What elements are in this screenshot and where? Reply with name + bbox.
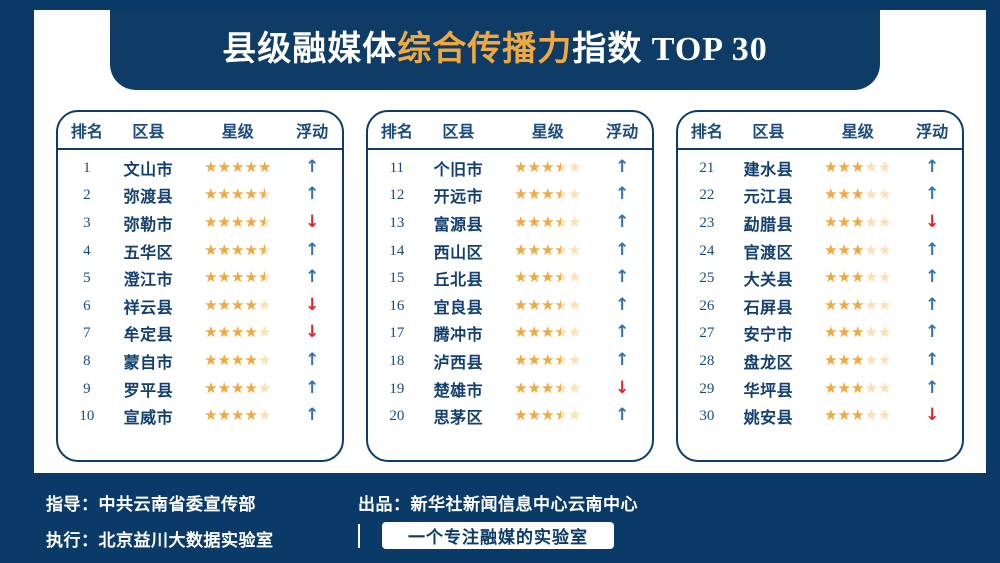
cell-district: 泸西县 bbox=[420, 349, 497, 373]
cell-rank: 15 bbox=[374, 269, 420, 287]
star-rating: ★★★★★★★★★★ bbox=[824, 354, 891, 369]
cell-rank: 3 bbox=[64, 214, 110, 232]
cell-rank: 7 bbox=[64, 324, 110, 342]
cell-district: 腾冲市 bbox=[420, 321, 497, 345]
table-row[interactable]: 4五华区★★★★★★★★★★↑ bbox=[64, 237, 336, 265]
cell-district: 官渡区 bbox=[730, 239, 807, 263]
cell-rank: 22 bbox=[684, 186, 730, 204]
district-name: 祥云县 bbox=[124, 300, 174, 317]
rank-value: 7 bbox=[83, 325, 91, 341]
cell-district: 姚安县 bbox=[730, 404, 807, 428]
cell-change: ↑ bbox=[598, 324, 646, 342]
cell-star-rating: ★★★★★★★★★★ bbox=[187, 159, 288, 177]
cell-rank: 19 bbox=[374, 380, 420, 398]
rank-value: 22 bbox=[699, 187, 714, 203]
column-header-stars: 星级 bbox=[497, 118, 598, 142]
table-row[interactable]: 20思茅区★★★★★★★★★★↑ bbox=[374, 402, 646, 430]
table-row[interactable]: 17腾冲市★★★★★★★★★★↑ bbox=[374, 320, 646, 348]
rank-value: 4 bbox=[83, 243, 91, 259]
rank-value: 27 bbox=[699, 325, 714, 341]
cell-star-rating: ★★★★★★★★★★ bbox=[807, 380, 908, 398]
cell-district: 思茅区 bbox=[420, 404, 497, 428]
footer-executor: 执行：北京益川大数据实验室 bbox=[46, 526, 274, 551]
table-row[interactable]: 9罗平县★★★★★★★★★★↑ bbox=[64, 375, 336, 403]
cell-rank: 24 bbox=[684, 242, 730, 260]
title-banner: 县级融媒体综合传播力指数 TOP 30 bbox=[110, 10, 880, 90]
cell-district: 蒙自市 bbox=[110, 349, 187, 373]
cell-change: ↑ bbox=[288, 186, 336, 204]
star-rating: ★★★★★★★★★★ bbox=[204, 161, 271, 176]
down-arrow-icon: ↓ bbox=[615, 378, 629, 398]
rank-value: 13 bbox=[389, 215, 404, 231]
cell-rank: 12 bbox=[374, 186, 420, 204]
district-name: 澄江市 bbox=[124, 272, 174, 289]
cell-rank: 23 bbox=[684, 214, 730, 232]
cell-district: 安宁市 bbox=[730, 321, 807, 345]
cell-change: ↑ bbox=[908, 324, 956, 342]
star-icon-fill: ★★★★★ bbox=[514, 216, 561, 231]
up-arrow-icon: ↑ bbox=[615, 240, 629, 260]
cell-rank: 14 bbox=[374, 242, 420, 260]
table-row[interactable]: 30姚安县★★★★★★★★★★↓ bbox=[684, 402, 956, 430]
rank-value: 25 bbox=[699, 270, 714, 286]
district-name: 姚安县 bbox=[744, 410, 794, 427]
table-row[interactable]: 28盘龙区★★★★★★★★★★↑ bbox=[684, 347, 956, 375]
cell-rank: 4 bbox=[64, 242, 110, 260]
table-row[interactable]: 16宜良县★★★★★★★★★★↑ bbox=[374, 292, 646, 320]
cell-change: ↑ bbox=[598, 159, 646, 177]
star-rating: ★★★★★★★★★★ bbox=[204, 326, 271, 341]
cell-rank: 21 bbox=[684, 159, 730, 177]
up-arrow-icon: ↑ bbox=[925, 184, 939, 204]
column-header-change: 浮动 bbox=[288, 118, 336, 142]
down-arrow-icon: ↓ bbox=[925, 212, 939, 232]
star-rating: ★★★★★★★★★★ bbox=[514, 326, 581, 341]
district-name: 富源县 bbox=[434, 217, 484, 234]
cell-rank: 26 bbox=[684, 297, 730, 315]
star-icon-fill: ★★★★★ bbox=[824, 409, 864, 424]
cell-rank: 16 bbox=[374, 297, 420, 315]
rank-value: 19 bbox=[389, 381, 404, 397]
cell-star-rating: ★★★★★★★★★★ bbox=[807, 186, 908, 204]
ranking-tables: 排名区县星级浮动1文山市★★★★★★★★★★↑2弥渡县★★★★★★★★★★↑3弥… bbox=[34, 110, 986, 462]
star-icon-fill: ★★★★★ bbox=[824, 326, 864, 341]
district-name: 开远市 bbox=[434, 189, 484, 206]
table-header-row: 排名区县星级浮动 bbox=[58, 112, 342, 150]
star-rating: ★★★★★★★★★★ bbox=[204, 382, 271, 397]
star-rating: ★★★★★★★★★★ bbox=[824, 188, 891, 203]
column-header-change: 浮动 bbox=[908, 118, 956, 142]
footer: 指导：中共云南省委宣传部 出品：新华社新闻信息中心云南中心 执行：北京益川大数据… bbox=[0, 478, 1000, 563]
table-row[interactable]: 21建水县★★★★★★★★★★↑ bbox=[684, 154, 956, 182]
district-name: 牟定县 bbox=[124, 327, 174, 344]
star-rating: ★★★★★★★★★★ bbox=[204, 299, 271, 314]
column-header-district: 区县 bbox=[730, 118, 807, 142]
star-rating: ★★★★★★★★★★ bbox=[824, 244, 891, 259]
star-rating: ★★★★★★★★★★ bbox=[514, 161, 581, 176]
star-rating: ★★★★★★★★★★ bbox=[514, 382, 581, 397]
cell-star-rating: ★★★★★★★★★★ bbox=[187, 214, 288, 232]
cell-district: 宜良县 bbox=[420, 294, 497, 318]
cell-district: 华坪县 bbox=[730, 377, 807, 401]
star-rating: ★★★★★★★★★★ bbox=[824, 326, 891, 341]
up-arrow-icon: ↑ bbox=[615, 157, 629, 177]
footer-producer: 出品：新华社新闻信息中心云南中心 bbox=[358, 490, 638, 515]
cell-rank: 6 bbox=[64, 297, 110, 315]
district-name: 元江县 bbox=[744, 189, 794, 206]
table-row[interactable]: 8蒙自市★★★★★★★★★★↑ bbox=[64, 347, 336, 375]
table-row[interactable]: 23勐腊县★★★★★★★★★★↓ bbox=[684, 209, 956, 237]
cell-rank: 11 bbox=[374, 159, 420, 177]
rank-value: 28 bbox=[699, 353, 714, 369]
star-rating: ★★★★★★★★★★ bbox=[824, 382, 891, 397]
cell-district: 楚雄市 bbox=[420, 377, 497, 401]
cell-district: 西山区 bbox=[420, 239, 497, 263]
poster-root: 县级融媒体综合传播力指数 TOP 30 排名区县星级浮动1文山市★★★★★★★★… bbox=[0, 0, 1000, 563]
up-arrow-icon: ↑ bbox=[305, 350, 319, 370]
rank-value: 6 bbox=[83, 298, 91, 314]
cell-star-rating: ★★★★★★★★★★ bbox=[497, 297, 598, 315]
cell-rank: 2 bbox=[64, 186, 110, 204]
up-arrow-icon: ↑ bbox=[615, 267, 629, 287]
cell-district: 大关县 bbox=[730, 266, 807, 290]
cell-change: ↑ bbox=[288, 159, 336, 177]
table-row[interactable]: 6祥云县★★★★★★★★★★↓ bbox=[64, 292, 336, 320]
table-header-row: 排名区县星级浮动 bbox=[368, 112, 652, 150]
column-header-rank: 排名 bbox=[64, 118, 110, 142]
cell-rank: 25 bbox=[684, 269, 730, 287]
column-header-stars: 星级 bbox=[807, 118, 908, 142]
cell-change: ↑ bbox=[908, 297, 956, 315]
cell-rank: 1 bbox=[64, 159, 110, 177]
star-rating: ★★★★★★★★★★ bbox=[514, 299, 581, 314]
district-name: 个旧市 bbox=[434, 162, 484, 179]
cell-change: ↑ bbox=[288, 352, 336, 370]
cell-district: 澄江市 bbox=[110, 266, 187, 290]
district-name: 宜良县 bbox=[434, 300, 484, 317]
column-header-district: 区县 bbox=[110, 118, 187, 142]
table-row[interactable]: 26石屏县★★★★★★★★★★↑ bbox=[684, 292, 956, 320]
cell-rank: 13 bbox=[374, 214, 420, 232]
cell-rank: 17 bbox=[374, 324, 420, 342]
cell-star-rating: ★★★★★★★★★★ bbox=[807, 269, 908, 287]
star-icon-fill: ★★★★★ bbox=[824, 271, 864, 286]
column-header-stars: 星级 bbox=[187, 118, 288, 142]
star-icon-fill: ★★★★★ bbox=[824, 354, 864, 369]
title-middle: 指数 bbox=[572, 31, 642, 68]
table-row[interactable]: 7牟定县★★★★★★★★★★↓ bbox=[64, 320, 336, 348]
cell-change: ↓ bbox=[908, 214, 956, 232]
cell-star-rating: ★★★★★★★★★★ bbox=[807, 324, 908, 342]
star-icon-fill: ★★★★★ bbox=[204, 271, 265, 286]
star-icon-fill: ★★★★★ bbox=[514, 299, 561, 314]
cell-district: 个旧市 bbox=[420, 156, 497, 180]
cell-star-rating: ★★★★★★★★★★ bbox=[807, 352, 908, 370]
table-row[interactable]: 11个旧市★★★★★★★★★★↑ bbox=[374, 154, 646, 182]
up-arrow-icon: ↑ bbox=[615, 212, 629, 232]
rank-value: 26 bbox=[699, 298, 714, 314]
cell-star-rating: ★★★★★★★★★★ bbox=[187, 269, 288, 287]
up-arrow-icon: ↑ bbox=[305, 378, 319, 398]
cell-star-rating: ★★★★★★★★★★ bbox=[497, 214, 598, 232]
star-icon-fill: ★★★★★ bbox=[514, 382, 561, 397]
star-icon-fill: ★★★★★ bbox=[824, 188, 864, 203]
cell-star-rating: ★★★★★★★★★★ bbox=[187, 380, 288, 398]
cell-rank: 29 bbox=[684, 380, 730, 398]
table-row[interactable]: 27安宁市★★★★★★★★★★↑ bbox=[684, 320, 956, 348]
down-arrow-icon: ↓ bbox=[305, 322, 319, 342]
district-name: 安宁市 bbox=[744, 327, 794, 344]
star-rating: ★★★★★★★★★★ bbox=[204, 354, 271, 369]
cell-star-rating: ★★★★★★★★★★ bbox=[187, 242, 288, 260]
column-header-rank: 排名 bbox=[374, 118, 420, 142]
cell-district: 文山市 bbox=[110, 156, 187, 180]
table-row[interactable]: 19楚雄市★★★★★★★★★★↓ bbox=[374, 375, 646, 403]
cell-star-rating: ★★★★★★★★★★ bbox=[807, 297, 908, 315]
rank-value: 21 bbox=[699, 160, 714, 176]
cell-rank: 5 bbox=[64, 269, 110, 287]
district-name: 西山区 bbox=[434, 245, 484, 262]
star-icon-fill: ★★★★★ bbox=[514, 188, 561, 203]
district-name: 腾冲市 bbox=[434, 327, 484, 344]
title-suffix: TOP 30 bbox=[652, 31, 768, 68]
cell-rank: 27 bbox=[684, 324, 730, 342]
table-row[interactable]: 14西山区★★★★★★★★★★↑ bbox=[374, 237, 646, 265]
cell-rank: 20 bbox=[374, 407, 420, 425]
column-header-change: 浮动 bbox=[598, 118, 646, 142]
cell-star-rating: ★★★★★★★★★★ bbox=[807, 242, 908, 260]
cell-star-rating: ★★★★★★★★★★ bbox=[807, 214, 908, 232]
down-arrow-icon: ↓ bbox=[925, 405, 939, 425]
district-name: 官渡区 bbox=[744, 245, 794, 262]
table-row[interactable]: 1文山市★★★★★★★★★★↑ bbox=[64, 154, 336, 182]
district-name: 楚雄市 bbox=[434, 383, 484, 400]
star-icon-fill: ★★★★★ bbox=[824, 382, 864, 397]
cell-district: 盘龙区 bbox=[730, 349, 807, 373]
rank-value: 24 bbox=[699, 243, 714, 259]
rank-value: 18 bbox=[389, 353, 404, 369]
table-row[interactable]: 3弥勒市★★★★★★★★★★↓ bbox=[64, 209, 336, 237]
district-name: 丘北县 bbox=[434, 272, 484, 289]
up-arrow-icon: ↑ bbox=[615, 350, 629, 370]
rank-value: 29 bbox=[699, 381, 714, 397]
rank-value: 15 bbox=[389, 270, 404, 286]
up-arrow-icon: ↑ bbox=[615, 184, 629, 204]
cell-change: ↓ bbox=[598, 380, 646, 398]
up-arrow-icon: ↑ bbox=[925, 157, 939, 177]
cell-district: 罗平县 bbox=[110, 377, 187, 401]
cell-district: 开远市 bbox=[420, 183, 497, 207]
star-icon-fill: ★★★★★ bbox=[514, 244, 561, 259]
cell-star-rating: ★★★★★★★★★★ bbox=[187, 407, 288, 425]
ranking-card-2: 排名区县星级浮动11个旧市★★★★★★★★★★↑12开远市★★★★★★★★★★↑… bbox=[366, 110, 654, 462]
rank-value: 5 bbox=[83, 270, 91, 286]
district-name: 弥渡县 bbox=[124, 189, 174, 206]
cell-star-rating: ★★★★★★★★★★ bbox=[807, 407, 908, 425]
star-icon-fill: ★★★★★ bbox=[204, 161, 271, 176]
cell-district: 五华区 bbox=[110, 239, 187, 263]
cell-change: ↓ bbox=[908, 407, 956, 425]
table-body: 11个旧市★★★★★★★★★★↑12开远市★★★★★★★★★★↑13富源县★★★… bbox=[368, 150, 652, 436]
star-rating: ★★★★★★★★★★ bbox=[514, 188, 581, 203]
star-rating: ★★★★★★★★★★ bbox=[514, 354, 581, 369]
cell-district: 元江县 bbox=[730, 183, 807, 207]
rank-value: 14 bbox=[389, 243, 404, 259]
column-header-rank: 排名 bbox=[684, 118, 730, 142]
district-name: 思茅区 bbox=[434, 410, 484, 427]
star-icon-fill: ★★★★★ bbox=[514, 161, 561, 176]
cell-change: ↑ bbox=[908, 242, 956, 260]
rank-value: 17 bbox=[389, 325, 404, 341]
footer-guide: 指导：中共云南省委宣传部 bbox=[46, 490, 256, 515]
star-icon-fill: ★★★★★ bbox=[514, 354, 561, 369]
star-rating: ★★★★★★★★★★ bbox=[824, 409, 891, 424]
cell-change: ↑ bbox=[288, 407, 336, 425]
star-icon-fill: ★★★★★ bbox=[204, 216, 265, 231]
table-row[interactable]: 10宣威市★★★★★★★★★★↑ bbox=[64, 402, 336, 430]
cell-star-rating: ★★★★★★★★★★ bbox=[497, 352, 598, 370]
cell-change: ↑ bbox=[288, 242, 336, 260]
up-arrow-icon: ↑ bbox=[305, 157, 319, 177]
star-icon-fill: ★★★★★ bbox=[204, 244, 265, 259]
cell-district: 弥勒市 bbox=[110, 211, 187, 235]
star-icon-fill: ★★★★★ bbox=[824, 299, 864, 314]
star-icon-fill: ★★★★★ bbox=[204, 299, 258, 314]
cell-district: 勐腊县 bbox=[730, 211, 807, 235]
cell-district: 牟定县 bbox=[110, 321, 187, 345]
rank-value: 8 bbox=[83, 353, 91, 369]
district-name: 勐腊县 bbox=[744, 217, 794, 234]
cell-rank: 30 bbox=[684, 407, 730, 425]
page-title: 县级融媒体综合传播力指数 TOP 30 bbox=[222, 33, 767, 67]
rank-value: 16 bbox=[389, 298, 404, 314]
rank-value: 2 bbox=[83, 187, 91, 203]
district-name: 罗平县 bbox=[124, 383, 174, 400]
cell-change: ↓ bbox=[288, 324, 336, 342]
cell-star-rating: ★★★★★★★★★★ bbox=[187, 297, 288, 315]
cell-change: ↑ bbox=[598, 186, 646, 204]
footer-divider bbox=[358, 524, 360, 548]
table-body: 1文山市★★★★★★★★★★↑2弥渡县★★★★★★★★★★↑3弥勒市★★★★★★… bbox=[58, 150, 342, 436]
table-row[interactable]: 2弥渡县★★★★★★★★★★↑ bbox=[64, 182, 336, 210]
star-rating: ★★★★★★★★★★ bbox=[514, 409, 581, 424]
star-icon-fill: ★★★★★ bbox=[514, 326, 561, 341]
cell-change: ↑ bbox=[598, 269, 646, 287]
star-rating: ★★★★★★★★★★ bbox=[824, 161, 891, 176]
star-rating: ★★★★★★★★★★ bbox=[204, 409, 271, 424]
up-arrow-icon: ↑ bbox=[925, 240, 939, 260]
star-rating: ★★★★★★★★★★ bbox=[824, 299, 891, 314]
table-row[interactable]: 22元江县★★★★★★★★★★↑ bbox=[684, 182, 956, 210]
table-row[interactable]: 18泸西县★★★★★★★★★★↑ bbox=[374, 347, 646, 375]
cell-change: ↑ bbox=[908, 186, 956, 204]
table-row[interactable]: 29华坪县★★★★★★★★★★↑ bbox=[684, 375, 956, 403]
title-prefix: 县级融媒体 bbox=[222, 31, 397, 68]
rank-value: 20 bbox=[389, 408, 404, 424]
cell-star-rating: ★★★★★★★★★★ bbox=[497, 380, 598, 398]
district-name: 泸西县 bbox=[434, 355, 484, 372]
star-rating: ★★★★★★★★★★ bbox=[824, 271, 891, 286]
down-arrow-icon: ↓ bbox=[305, 295, 319, 315]
cell-rank: 10 bbox=[64, 407, 110, 425]
cell-rank: 8 bbox=[64, 352, 110, 370]
cell-change: ↑ bbox=[908, 352, 956, 370]
up-arrow-icon: ↑ bbox=[615, 322, 629, 342]
district-name: 蒙自市 bbox=[124, 355, 174, 372]
cell-change: ↑ bbox=[908, 159, 956, 177]
table-row[interactable]: 13富源县★★★★★★★★★★↑ bbox=[374, 209, 646, 237]
table-body: 21建水县★★★★★★★★★★↑22元江县★★★★★★★★★★↑23勐腊县★★★… bbox=[678, 150, 962, 436]
district-name: 弥勒市 bbox=[124, 217, 174, 234]
up-arrow-icon: ↑ bbox=[925, 350, 939, 370]
cell-change: ↑ bbox=[598, 407, 646, 425]
cell-rank: 9 bbox=[64, 380, 110, 398]
cell-change: ↑ bbox=[598, 297, 646, 315]
star-icon-fill: ★★★★★ bbox=[514, 271, 561, 286]
star-icon-fill: ★★★★★ bbox=[204, 354, 258, 369]
up-arrow-icon: ↑ bbox=[305, 184, 319, 204]
cell-change: ↑ bbox=[288, 269, 336, 287]
star-rating: ★★★★★★★★★★ bbox=[514, 216, 581, 231]
rank-value: 1 bbox=[83, 160, 91, 176]
cell-star-rating: ★★★★★★★★★★ bbox=[497, 159, 598, 177]
table-header-row: 排名区县星级浮动 bbox=[678, 112, 962, 150]
cell-star-rating: ★★★★★★★★★★ bbox=[187, 186, 288, 204]
footer-lab-badge: 一个专注融媒的实验室 bbox=[382, 522, 614, 549]
cell-star-rating: ★★★★★★★★★★ bbox=[497, 407, 598, 425]
cell-rank: 28 bbox=[684, 352, 730, 370]
table-row[interactable]: 5澄江市★★★★★★★★★★↑ bbox=[64, 264, 336, 292]
cell-district: 石屏县 bbox=[730, 294, 807, 318]
district-name: 大关县 bbox=[744, 272, 794, 289]
star-icon-fill: ★★★★★ bbox=[204, 188, 265, 203]
cell-change: ↑ bbox=[908, 380, 956, 398]
table-row[interactable]: 15丘北县★★★★★★★★★★↑ bbox=[374, 264, 646, 292]
district-name: 石屏县 bbox=[744, 300, 794, 317]
rank-value: 11 bbox=[390, 160, 404, 176]
up-arrow-icon: ↑ bbox=[615, 405, 629, 425]
cell-change: ↓ bbox=[288, 297, 336, 315]
star-rating: ★★★★★★★★★★ bbox=[514, 271, 581, 286]
cell-star-rating: ★★★★★★★★★★ bbox=[497, 324, 598, 342]
star-rating: ★★★★★★★★★★ bbox=[824, 216, 891, 231]
cell-star-rating: ★★★★★★★★★★ bbox=[187, 324, 288, 342]
star-icon-fill: ★★★★★ bbox=[204, 382, 258, 397]
star-icon-fill: ★★★★★ bbox=[204, 326, 258, 341]
cell-change: ↑ bbox=[598, 242, 646, 260]
table-row[interactable]: 24官渡区★★★★★★★★★★↑ bbox=[684, 237, 956, 265]
cell-star-rating: ★★★★★★★★★★ bbox=[497, 242, 598, 260]
cell-district: 宣威市 bbox=[110, 404, 187, 428]
up-arrow-icon: ↑ bbox=[305, 405, 319, 425]
star-rating: ★★★★★★★★★★ bbox=[204, 188, 271, 203]
district-name: 文山市 bbox=[124, 162, 174, 179]
star-rating: ★★★★★★★★★★ bbox=[204, 244, 271, 259]
cell-change: ↑ bbox=[288, 380, 336, 398]
column-header-district: 区县 bbox=[420, 118, 497, 142]
cell-star-rating: ★★★★★★★★★★ bbox=[187, 352, 288, 370]
rank-value: 9 bbox=[83, 381, 91, 397]
district-name: 盘龙区 bbox=[744, 355, 794, 372]
district-name: 五华区 bbox=[124, 245, 174, 262]
table-row[interactable]: 12开远市★★★★★★★★★★↑ bbox=[374, 182, 646, 210]
up-arrow-icon: ↑ bbox=[925, 322, 939, 342]
title-highlight: 综合传播力 bbox=[397, 31, 572, 68]
district-name: 建水县 bbox=[744, 162, 794, 179]
rank-value: 23 bbox=[699, 215, 714, 231]
table-row[interactable]: 25大关县★★★★★★★★★★↑ bbox=[684, 264, 956, 292]
star-icon-fill: ★★★★★ bbox=[824, 216, 864, 231]
